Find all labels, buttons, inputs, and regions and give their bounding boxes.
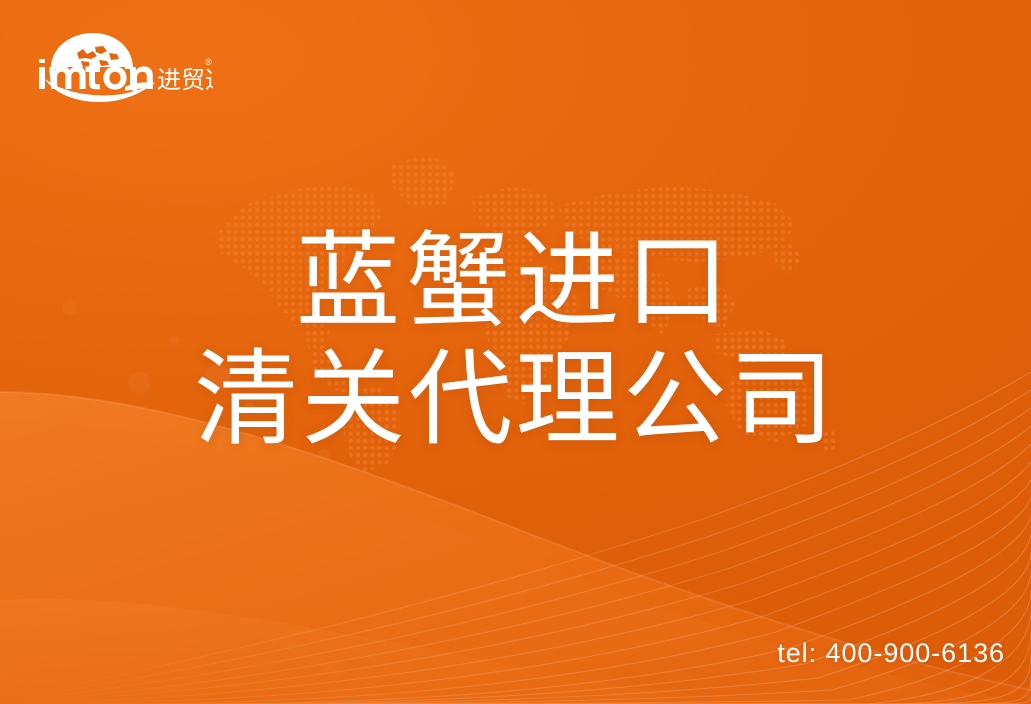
logo-chinese-name: 进贸通 <box>157 66 213 94</box>
telephone-label: tel: 400-900-6136 <box>777 638 1005 669</box>
page-title: 蓝蟹进口 清关代理公司 <box>0 228 1031 454</box>
brand-logo[interactable]: 进贸通 ® <box>33 27 213 105</box>
headline-line-1: 蓝蟹进口 <box>0 228 1031 336</box>
poster-canvas: 进贸通 ® 蓝蟹进口 清关代理公司 tel: 400-900-6136 <box>0 0 1031 704</box>
registered-trademark-icon: ® <box>205 57 212 67</box>
headline-line-2: 清关代理公司 <box>0 346 1031 454</box>
